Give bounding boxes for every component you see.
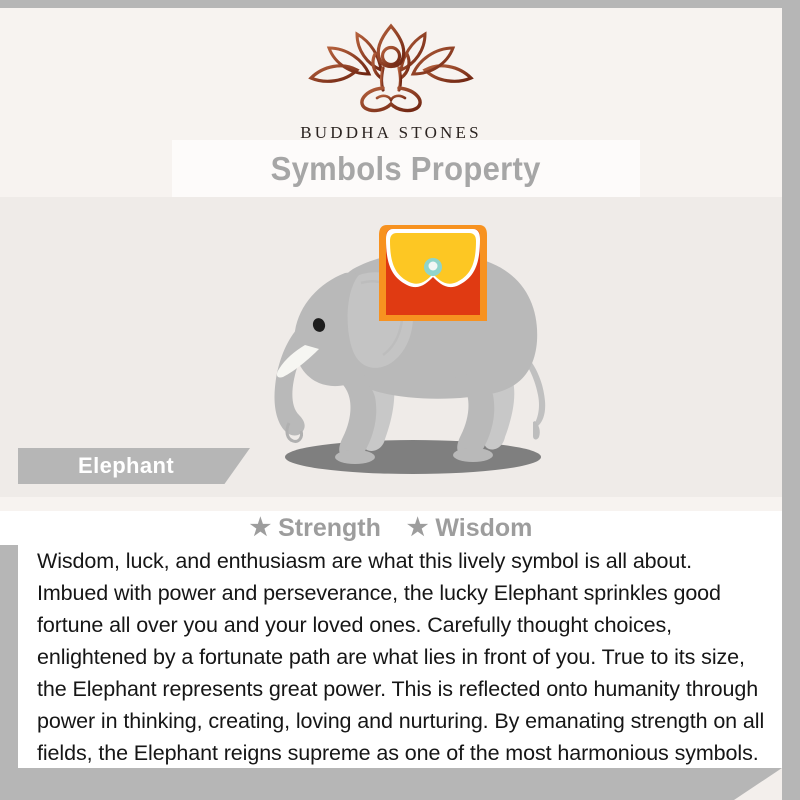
symbol-description: Wisdom, luck, and enthusiasm are what th… — [18, 545, 782, 769]
saddle-gem-inner — [429, 262, 438, 271]
walking-elephant-illustration — [233, 209, 563, 489]
attributes-strip-spacer — [0, 497, 782, 511]
attribute-strength: ★ Strength — [250, 514, 381, 543]
attribute-wisdom: ★ Wisdom — [407, 514, 533, 543]
title-band: Symbols Property — [172, 140, 640, 197]
description-panel: Wisdom, luck, and enthusiasm are what th… — [18, 545, 782, 768]
elephant-saddle-blanket — [379, 225, 487, 321]
star-icon: ★ — [407, 516, 429, 540]
title-band-filler-right — [640, 140, 782, 197]
frame-border-right — [782, 0, 800, 772]
elephant-hind-foot — [453, 448, 493, 462]
title-band-filler-left — [0, 140, 172, 197]
infographic-card: BUDDHA STONES Symbols Property — [0, 0, 800, 800]
attributes-row: ★ Strength ★ Wisdom — [0, 511, 782, 545]
elephant-front-foot — [335, 450, 375, 464]
attribute-label: Strength — [278, 514, 381, 543]
frame-border-top — [0, 0, 800, 8]
frame-border-bottom — [0, 768, 800, 800]
symbol-name-banner: Elephant — [18, 448, 250, 484]
lotus-meditation-figure-icon — [303, 22, 479, 119]
page-title: Symbols Property — [271, 150, 541, 188]
brand-header: BUDDHA STONES — [0, 8, 782, 140]
symbol-name: Elephant — [78, 453, 174, 479]
elephant-shadow — [285, 440, 541, 474]
star-icon: ★ — [250, 516, 272, 540]
attribute-label: Wisdom — [435, 514, 532, 543]
